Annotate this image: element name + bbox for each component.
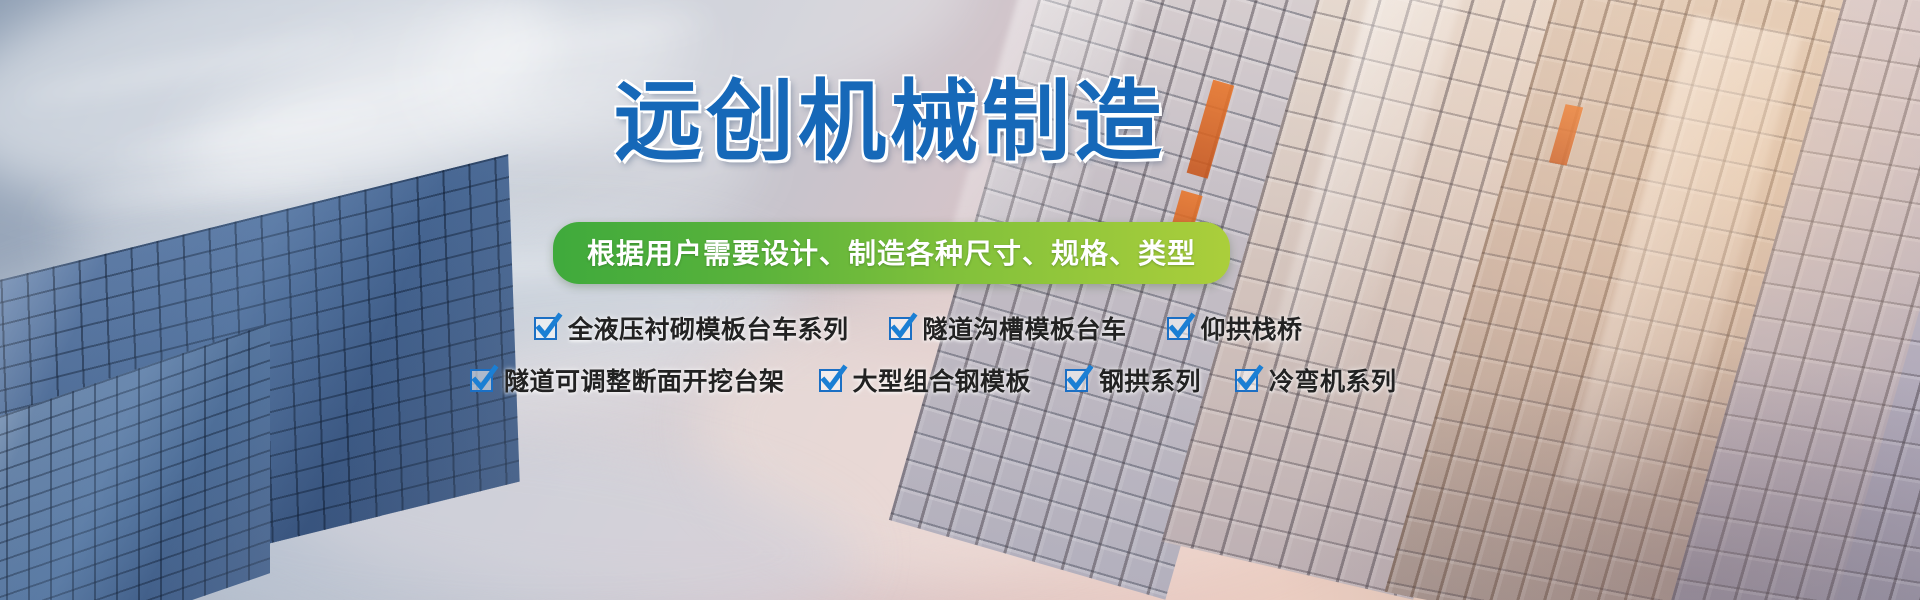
checkbox-checked-icon [1065, 369, 1088, 392]
feature-item[interactable]: 仰拱栈桥 [1167, 310, 1303, 346]
cloud-streak [121, 108, 380, 161]
checkbox-checked-icon [1235, 369, 1258, 392]
feature-item-label: 冷弯机系列 [1269, 362, 1397, 398]
banner-subtitle-pill: 根据用户需要设计、制造各种尺寸、规格、类型 [553, 222, 1230, 284]
feature-item-label: 全液压衬砌模板台车系列 [568, 310, 849, 346]
feature-item-label: 隧道可调整断面开挖台架 [504, 362, 785, 398]
feature-item[interactable]: 全液压衬砌模板台车系列 [534, 310, 849, 346]
feature-item[interactable]: 隧道可调整断面开挖台架 [470, 362, 785, 398]
banner-headline: 远创机械制造 [590, 78, 1190, 166]
checkbox-checked-icon [889, 317, 912, 340]
cloud-streak [252, 73, 459, 130]
cloud-streak [471, 13, 709, 66]
feature-item-label: 大型组合钢模板 [853, 362, 1032, 398]
feature-item[interactable]: 隧道沟槽模板台车 [889, 310, 1127, 346]
feature-item-label: 隧道沟槽模板台车 [923, 310, 1127, 346]
feature-item[interactable]: 钢拱系列 [1065, 362, 1201, 398]
feature-item[interactable]: 冷弯机系列 [1235, 362, 1397, 398]
feature-row-2: 隧道可调整断面开挖台架 大型组合钢模板 钢拱系列 [470, 362, 1397, 398]
cloud-streak [22, 29, 349, 108]
feature-item-label: 仰拱栈桥 [1201, 310, 1303, 346]
checkbox-checked-icon [470, 369, 493, 392]
checkbox-checked-icon [1167, 317, 1190, 340]
feature-row-1: 全液压衬砌模板台车系列 隧道沟槽模板台车 仰拱栈桥 [534, 310, 1303, 346]
checkbox-checked-icon [534, 317, 557, 340]
hero-banner: 远创机械制造 根据用户需要设计、制造各种尺寸、规格、类型 全液压衬砌模板台车系列… [0, 0, 1920, 600]
checkbox-checked-icon [819, 369, 842, 392]
feature-item[interactable]: 大型组合钢模板 [819, 362, 1032, 398]
feature-item-label: 钢拱系列 [1099, 362, 1201, 398]
